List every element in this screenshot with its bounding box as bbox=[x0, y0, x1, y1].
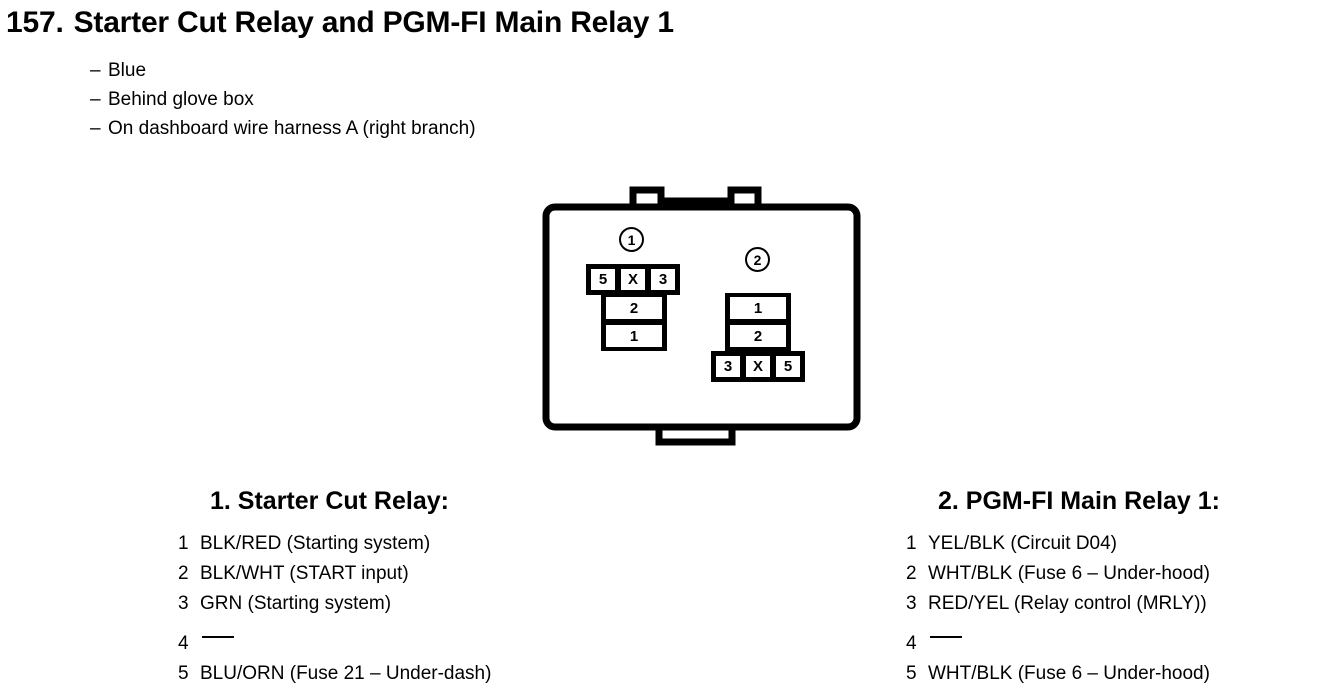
connector-1-terminal-3: 3 bbox=[650, 268, 676, 291]
terminal-label: 2 bbox=[754, 329, 762, 344]
legend-row: 5 WHT/BLK (Fuse 6 – Under-hood) bbox=[906, 659, 1328, 689]
list-item: –Blue bbox=[90, 56, 476, 85]
pin-description: BLU/ORN (Fuse 21 – Under-dash) bbox=[200, 659, 698, 689]
connector-2-terminal-1: 1 bbox=[729, 296, 787, 320]
callout-marker-1: 1 bbox=[619, 227, 644, 252]
pin-description-empty bbox=[928, 619, 1328, 649]
pin-description: YEL/BLK (Circuit D04) bbox=[928, 529, 1328, 559]
connector-1-terminal-1: 1 bbox=[605, 324, 663, 348]
list-item: –On dashboard wire harness A (right bran… bbox=[90, 114, 476, 143]
pin-number: 5 bbox=[906, 659, 928, 689]
terminal-label: 3 bbox=[724, 359, 732, 374]
pin-description: GRN (Starting system) bbox=[200, 589, 698, 619]
legend-row: 4 bbox=[906, 619, 1328, 659]
legend-row: 3 GRN (Starting system) bbox=[178, 589, 698, 619]
connector-diagram: 1 2 5 X 3 2 1 1 bbox=[520, 180, 870, 450]
pin-description: BLK/WHT (START input) bbox=[200, 559, 698, 589]
bullet-text: Blue bbox=[108, 60, 146, 81]
legend-row: 2 WHT/BLK (Fuse 6 – Under-hood) bbox=[906, 559, 1328, 589]
pin-description: WHT/BLK (Fuse 6 – Under-hood) bbox=[928, 659, 1328, 689]
pin-description: WHT/BLK (Fuse 6 – Under-hood) bbox=[928, 559, 1328, 589]
terminal-label: 1 bbox=[754, 301, 762, 316]
pin-number: 3 bbox=[906, 589, 928, 619]
terminal-label: 1 bbox=[630, 329, 638, 344]
page-title-number: 157. bbox=[6, 6, 64, 39]
legend-left-heading: 1. Starter Cut Relay: bbox=[178, 487, 698, 515]
connector-2-terminal-3: 3 bbox=[715, 355, 741, 378]
bullet-dash-icon: – bbox=[90, 114, 108, 143]
pin-description-empty bbox=[200, 619, 698, 649]
terminal-label: 5 bbox=[599, 272, 607, 287]
pin-number: 5 bbox=[178, 659, 200, 689]
legend-starter-cut-relay: 1. Starter Cut Relay: 1 BLK/RED (Startin… bbox=[178, 487, 698, 689]
legend-row: 5 BLU/ORN (Fuse 21 – Under-dash) bbox=[178, 659, 698, 689]
connector-2-terminal-5: 5 bbox=[775, 355, 801, 378]
callout-marker-2: 2 bbox=[745, 247, 770, 272]
legend-row: 2 BLK/WHT (START input) bbox=[178, 559, 698, 589]
bullet-text: On dashboard wire harness A (right branc… bbox=[108, 118, 476, 139]
terminal-label: 5 bbox=[784, 359, 792, 374]
pin-number: 2 bbox=[178, 559, 200, 589]
connector-1-terminal-2: 2 bbox=[605, 296, 663, 320]
connector-2-terminal-2: 2 bbox=[729, 324, 787, 348]
bullet-dash-icon: – bbox=[90, 85, 108, 114]
pin-number: 2 bbox=[906, 559, 928, 589]
terminal-label: X bbox=[753, 359, 763, 374]
pin-description: BLK/RED (Starting system) bbox=[200, 529, 698, 559]
connector-1-terminal-x: X bbox=[620, 268, 646, 291]
legend-row: 1 BLK/RED (Starting system) bbox=[178, 529, 698, 559]
legend-row: 3 RED/YEL (Relay control (MRLY)) bbox=[906, 589, 1328, 619]
legend-right-heading: 2. PGM-FI Main Relay 1: bbox=[906, 487, 1328, 515]
relay-housing-outline bbox=[520, 180, 870, 450]
location-bullet-list: –Blue –Behind glove box –On dashboard wi… bbox=[90, 56, 476, 143]
terminal-label: 3 bbox=[659, 272, 667, 287]
pin-number: 4 bbox=[178, 629, 200, 659]
page-title: 157.Starter Cut Relay and PGM-FI Main Re… bbox=[6, 6, 674, 40]
pin-description: RED/YEL (Relay control (MRLY)) bbox=[928, 589, 1328, 619]
terminal-label: X bbox=[628, 272, 638, 287]
connector-1-terminal-5: 5 bbox=[590, 268, 616, 291]
bullet-dash-icon: – bbox=[90, 56, 108, 85]
document-page: 157.Starter Cut Relay and PGM-FI Main Re… bbox=[0, 0, 1328, 692]
pin-number: 1 bbox=[906, 529, 928, 559]
pin-number: 1 bbox=[178, 529, 200, 559]
legend-pgmfi-main-relay: 2. PGM-FI Main Relay 1: 1 YEL/BLK (Circu… bbox=[906, 487, 1328, 689]
list-item: –Behind glove box bbox=[90, 85, 476, 114]
pin-number: 3 bbox=[178, 589, 200, 619]
callout-marker-1-label: 1 bbox=[628, 232, 636, 248]
terminal-label: 2 bbox=[630, 301, 638, 316]
pin-number: 4 bbox=[906, 629, 928, 659]
legend-row: 4 bbox=[178, 619, 698, 659]
page-title-text: Starter Cut Relay and PGM-FI Main Relay … bbox=[74, 6, 674, 39]
bullet-text: Behind glove box bbox=[108, 89, 254, 110]
connector-2-terminal-x: X bbox=[745, 355, 771, 378]
callout-marker-2-label: 2 bbox=[754, 252, 762, 268]
legend-row: 1 YEL/BLK (Circuit D04) bbox=[906, 529, 1328, 559]
